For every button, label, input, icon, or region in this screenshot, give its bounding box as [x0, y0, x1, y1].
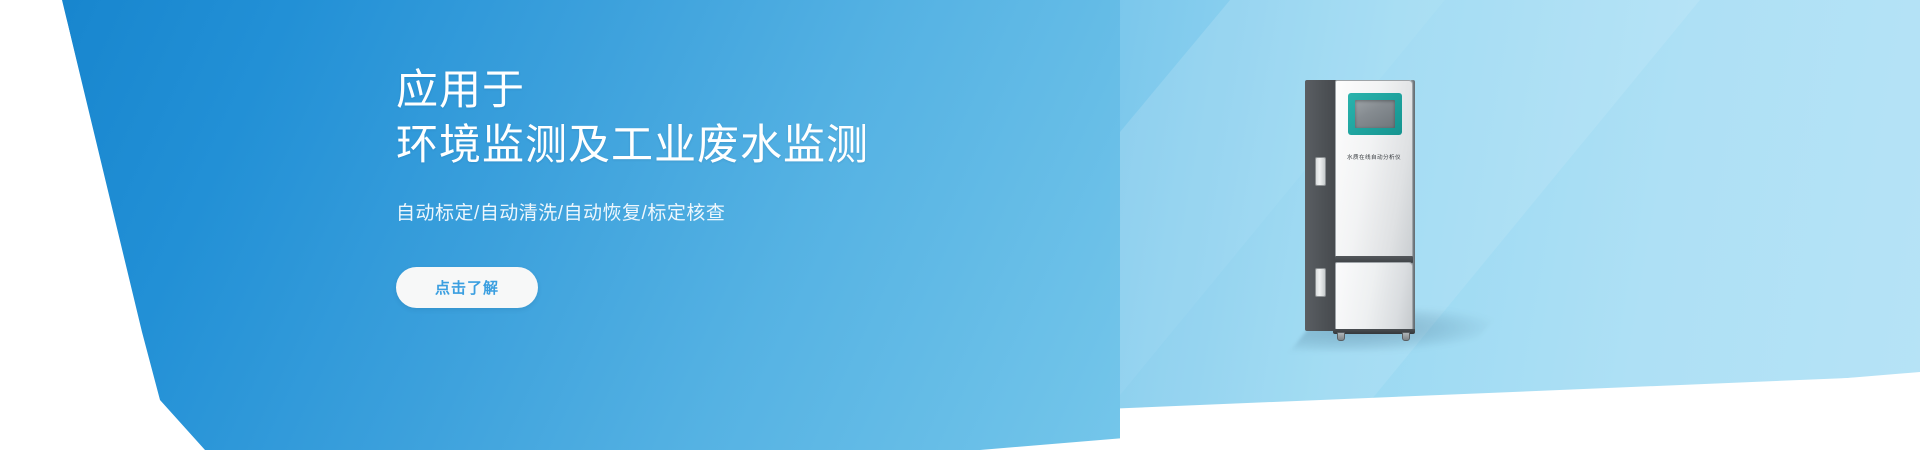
device-caster-right-icon [1402, 332, 1410, 341]
learn-more-button[interactable]: 点击了解 [396, 267, 538, 308]
device-side-panel [1305, 80, 1338, 331]
device-screen-bezel [1348, 93, 1402, 135]
left-white-edge [0, 0, 240, 450]
device-upper-door: 水质在线自动分析仪 [1335, 80, 1413, 258]
device-display-screen [1355, 100, 1395, 128]
hero-banner: 应用于 环境监测及工业废水监测 自动标定/自动清洗/自动恢复/标定核查 点击了解… [0, 0, 1920, 450]
product-device-illustration: 水质在线自动分析仪 [1305, 80, 1445, 345]
headline: 应用于 环境监测及工业废水监测 [396, 62, 1036, 173]
device-front-label: 水质在线自动分析仪 [1336, 153, 1412, 161]
device-lower-handle-icon [1315, 268, 1326, 297]
device-lower-door [1335, 262, 1413, 331]
device-caster-left-icon [1337, 332, 1345, 341]
headline-line-1: 应用于 [396, 62, 1036, 117]
headline-line-2: 环境监测及工业废水监测 [396, 117, 1036, 172]
device-upper-handle-icon [1315, 157, 1326, 186]
banner-subtitle: 自动标定/自动清洗/自动恢复/标定核查 [396, 200, 1036, 229]
banner-copy: 应用于 环境监测及工业废水监测 自动标定/自动清洗/自动恢复/标定核查 点击了解 [396, 62, 1036, 308]
